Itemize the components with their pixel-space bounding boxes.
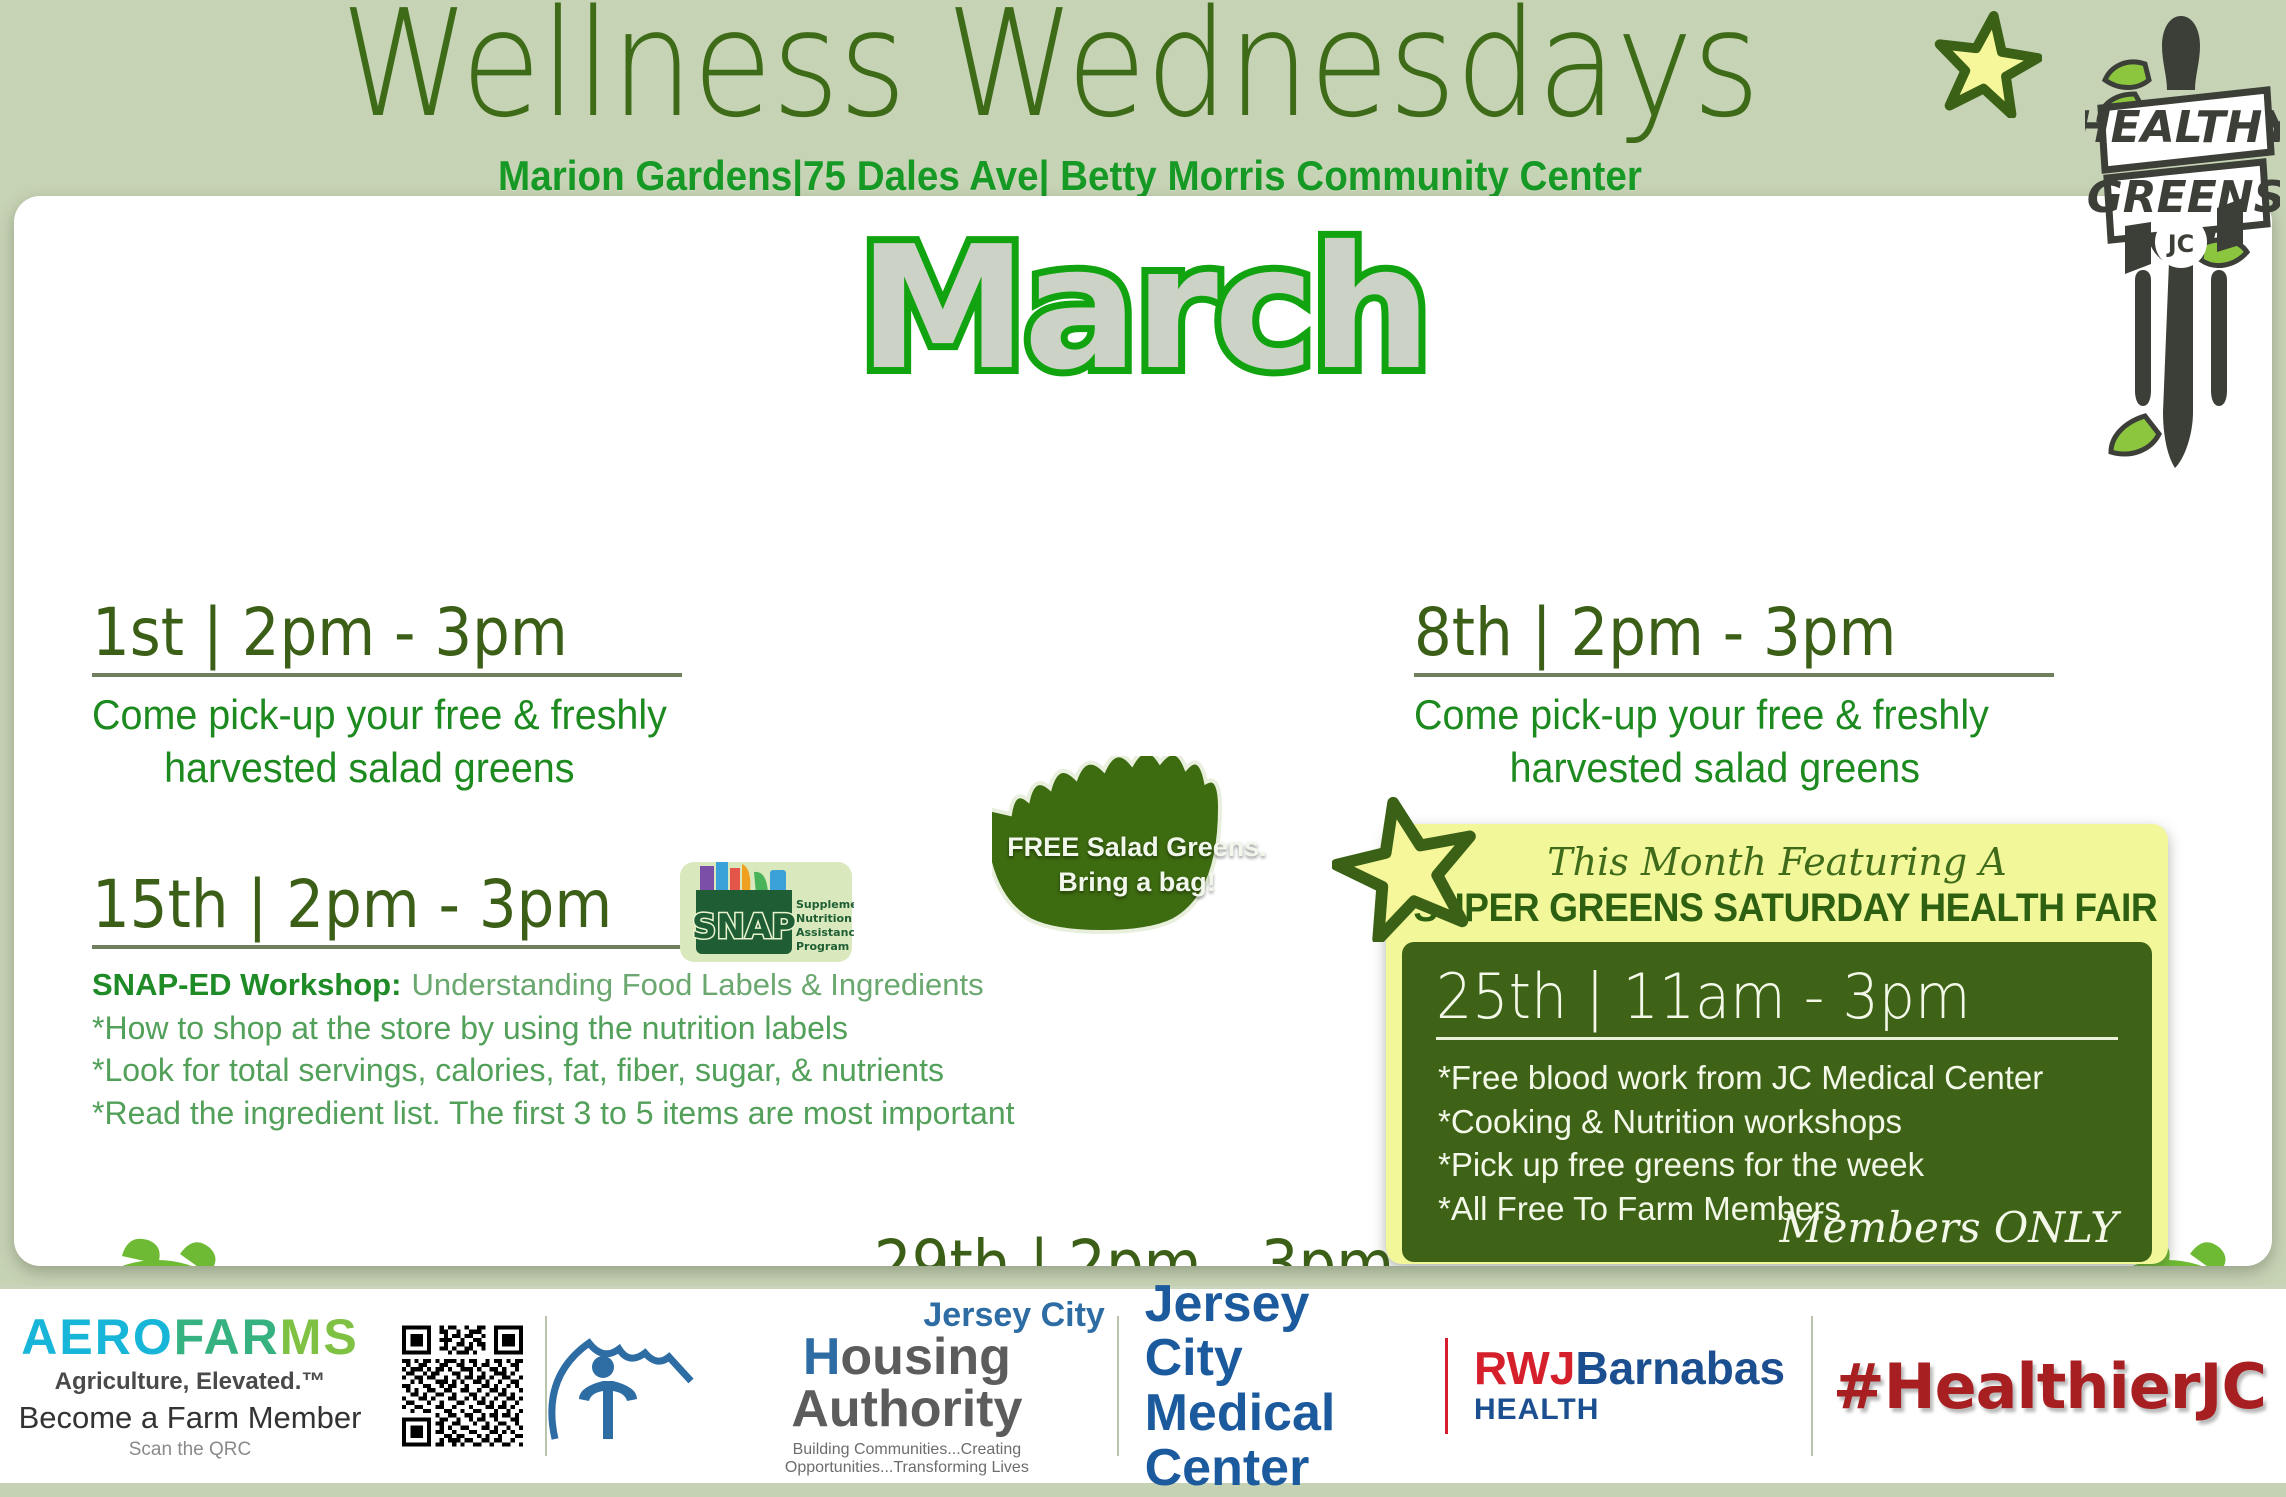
jcmc-line2: Medical Center: [1145, 1386, 1419, 1495]
snap-wordmark: SNAP: [692, 907, 796, 947]
jcha-wordmark: Housing Authority: [697, 1331, 1117, 1435]
feature-bullet: *Free blood work from JC Medical Center: [1438, 1056, 2152, 1100]
badge-text: FREE Salad Greens. Bring a bag!: [992, 830, 1282, 900]
workshop-heading: SNAP-ED Workshop: Understanding Food Lab…: [92, 959, 740, 1007]
feature-subheading: SUPER GREENS SATURDAY HEALTH FAIR: [1413, 886, 2140, 931]
jc-medical-center-logo: Jersey City Medical Center RWJBarnabas H…: [1119, 1311, 1811, 1461]
event-date: 1st | 2pm - 3pm: [92, 594, 623, 671]
hg-line1-text: HEALTHY: [2085, 102, 2280, 153]
feature-heading: This Month Featuring A: [1386, 840, 2168, 884]
snap-line3: Assistance: [796, 926, 854, 939]
workshop-bullet: *How to shop at the store by using the n…: [92, 1007, 740, 1050]
month-heading: March: [14, 224, 2272, 394]
workshop-bullet: *Look for total servings, calories, fat,…: [92, 1049, 740, 1092]
event-date: 15th | 2pm - 3pm: [92, 866, 675, 943]
snap-line4: Program: [796, 940, 849, 953]
snap-line2: Nutrition: [796, 912, 852, 925]
aerofarms-wordmark: AEROFARMS: [0, 1312, 380, 1362]
venue-subtitle: Marion Gardens|75 Dales Ave| Betty Morri…: [86, 152, 2055, 200]
snap-line1: Supplemental: [796, 898, 854, 911]
jcha-house-icon: [547, 1321, 697, 1451]
event-date: 29th | 2pm - 3pm: [846, 1226, 1422, 1266]
healthierjc-hashtag: #HealthierJC: [1813, 1311, 2286, 1461]
event-date: 8th | 2pm - 3pm: [1414, 594, 1990, 671]
snap-logo: SNAP Supplemental Nutrition Assistance P…: [678, 856, 854, 964]
event-block-29th: 29th | 2pm - 3pm Come pick-up your free …: [814, 1226, 1454, 1266]
aerofarms-logo: AEROFARMS Agriculture, Elevated.™ Become…: [0, 1311, 380, 1461]
event-block-1st: 1st | 2pm - 3pm Come pick-up your free &…: [92, 594, 682, 794]
star-icon-feature: [1332, 794, 1482, 942]
jcha-logo: Jersey City Housing Authority Building C…: [547, 1311, 1117, 1461]
free-greens-badge: FREE Salad Greens. Bring a bag!: [992, 756, 1282, 956]
feature-bullet: *Cooking & Nutrition workshops: [1438, 1100, 2152, 1144]
main-card: March: [14, 196, 2272, 1266]
page-title: Wellness Wednesdays: [126, 0, 1974, 138]
star-icon: [1932, 10, 2042, 118]
lettuce-icon-left: [62, 1226, 252, 1266]
flyer-header: Wellness Wednesdays Marion Gardens|75 Da…: [0, 0, 2286, 200]
members-only-note: Members ONLY: [1779, 1203, 2118, 1252]
feature-date: 25th | 11am - 3pm: [1436, 960, 2095, 1033]
event-description: Come pick-up your free & freshly harvest…: [1414, 689, 2016, 794]
event-block-15th: 15th | 2pm - 3pm SNAP-ED Workshop: Under…: [92, 866, 740, 1135]
scan-instruction: Scan the QRC: [0, 1439, 380, 1461]
featured-event-inner: 25th | 11am - 3pm *Free blood work from …: [1402, 942, 2152, 1262]
event-rule: [92, 673, 682, 677]
jcmc-line1: Jersey City: [1145, 1277, 1419, 1386]
event-rule: [1414, 673, 2054, 677]
event-rule: [92, 945, 740, 949]
rwj-barnabas-logo: RWJBarnabas HEALTH: [1448, 1345, 1811, 1427]
qr-code[interactable]: [402, 1317, 523, 1455]
aerofarms-tagline: Agriculture, Elevated.™: [0, 1368, 380, 1396]
flyer-canvas: Wellness Wednesdays Marion Gardens|75 Da…: [0, 0, 2286, 1480]
event-description: Come pick-up your free & freshly harvest…: [92, 689, 647, 794]
healthy-greens-logo: HEALTHY GREENS JC: [2085, 12, 2280, 472]
snap-workshop-details: SNAP-ED Workshop: Understanding Food Lab…: [92, 959, 740, 1135]
hashtag-text: #HealthierJC: [1813, 1350, 2286, 1423]
event-block-8th: 8th | 2pm - 3pm Come pick-up your free &…: [1414, 594, 2054, 794]
featured-event-panel: This Month Featuring A SUPER GREENS SATU…: [1386, 824, 2168, 1264]
feature-rule: [1436, 1037, 2118, 1040]
workshop-bullet: *Read the ingredient list. The first 3 t…: [92, 1092, 740, 1135]
jcha-tagline: Building Communities...Creating Opportun…: [697, 1441, 1117, 1477]
feature-bullet: *Pick up free greens for the week: [1438, 1143, 2152, 1187]
farm-member-cta: Become a Farm Member: [0, 1400, 380, 1436]
rwj-health-text: HEALTH: [1474, 1393, 1785, 1427]
hg-line2-text: GREENS: [2087, 172, 2280, 223]
sponsor-footer: AEROFARMS Agriculture, Elevated.™ Become…: [0, 1286, 2286, 1483]
hg-jc-text: JC: [2166, 230, 2195, 258]
